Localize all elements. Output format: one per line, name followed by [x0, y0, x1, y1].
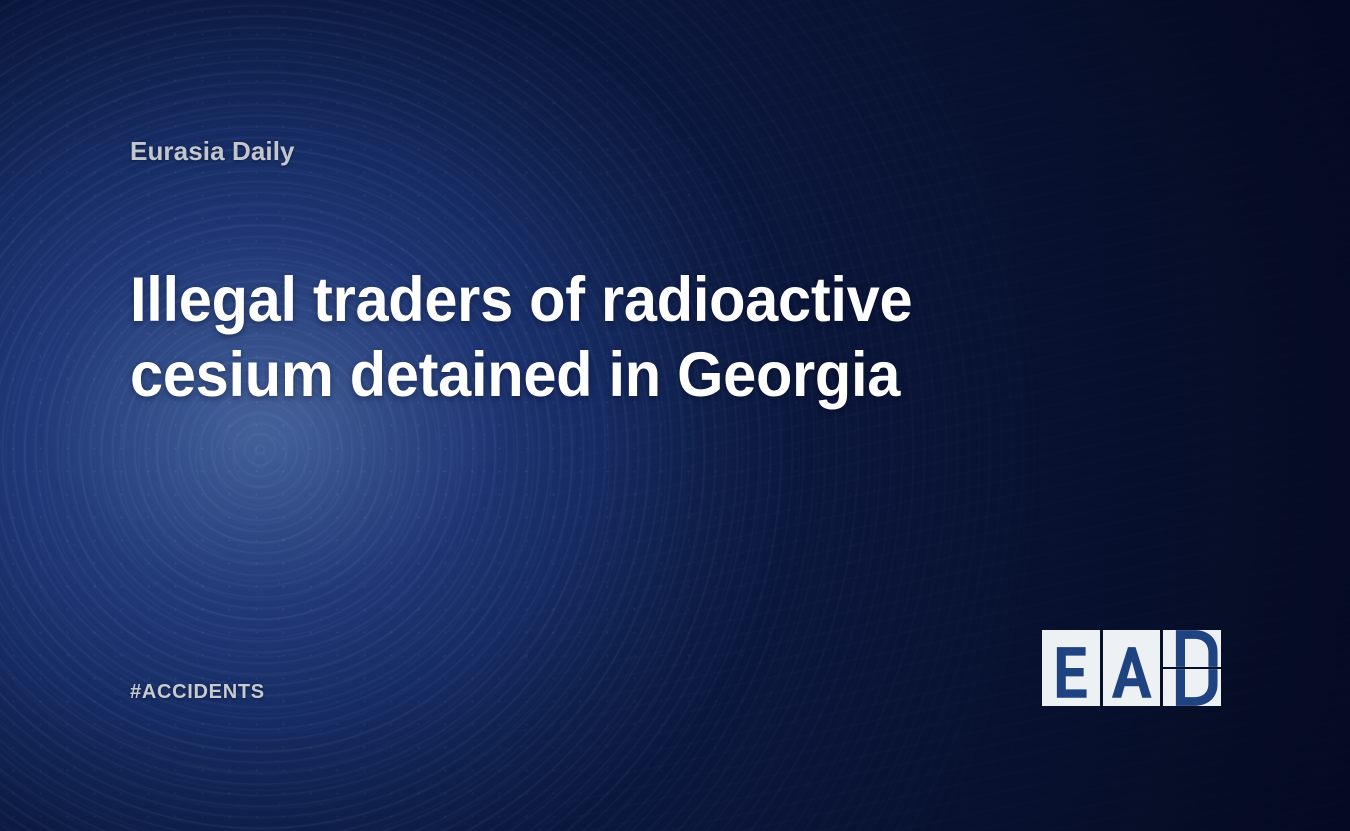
- letter-a-icon: [1103, 630, 1161, 706]
- logo-d-lower-half: [1163, 669, 1221, 706]
- article-headline: Illegal traders of radioactive cesium de…: [130, 263, 1037, 413]
- site-name-label: Eurasia Daily: [130, 136, 295, 167]
- card-content: Eurasia Daily Illegal traders of radioac…: [0, 0, 1350, 831]
- logo-tile-a: [1103, 630, 1161, 706]
- category-hashtag[interactable]: #ACCIDENTS: [130, 681, 265, 704]
- eadaily-logo[interactable]: [1042, 630, 1221, 706]
- logo-tile-e: [1042, 630, 1100, 706]
- letter-e-icon: [1042, 630, 1100, 706]
- article-share-card: Eurasia Daily Illegal traders of radioac…: [0, 0, 1350, 831]
- logo-tile-d-split: [1163, 630, 1221, 706]
- letter-d-top-icon: [1163, 630, 1221, 667]
- logo-d-upper-half: [1163, 630, 1221, 667]
- letter-d-bottom-icon: [1163, 669, 1221, 706]
